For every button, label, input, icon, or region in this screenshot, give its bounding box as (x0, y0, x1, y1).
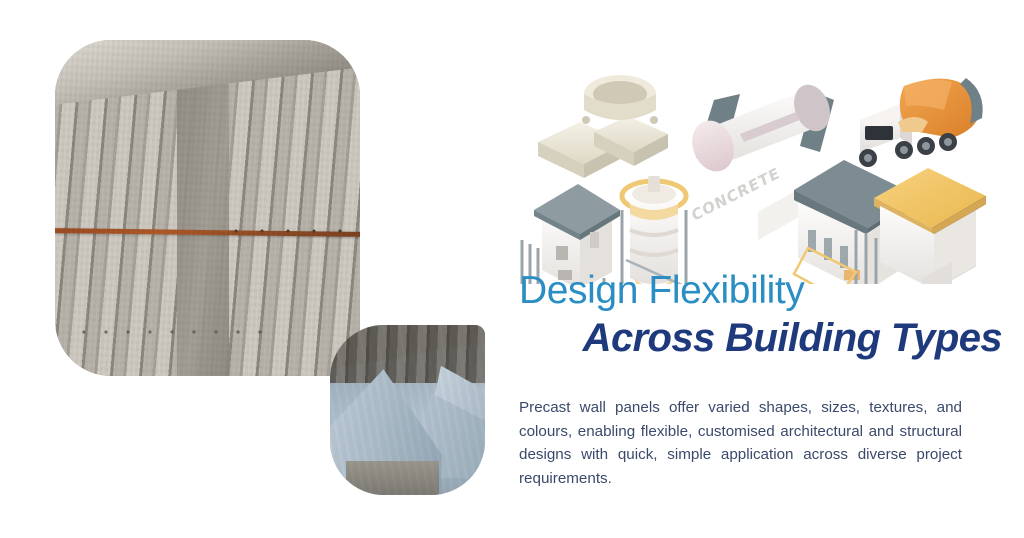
precast-slabs-photo (330, 325, 485, 495)
concrete-mixer-drum-icon (538, 75, 668, 178)
content-column: CONCRETE (500, 0, 1024, 538)
headline-line-1: Design Flexibility (500, 268, 1024, 314)
precast-wall-panels-photo (55, 40, 360, 376)
slabs-grain-overlay (330, 325, 485, 495)
headline-line-2: Across Building Types (500, 314, 1024, 362)
slide-root: CONCRETE (0, 0, 1024, 538)
mixer-truck-icon (859, 78, 983, 167)
body-paragraph: Precast wall panels offer varied shapes,… (519, 396, 962, 490)
isometric-concrete-industry-illustration: CONCRETE (508, 34, 988, 284)
panels-grain-overlay (55, 40, 360, 376)
cement-tank-icon (685, 80, 836, 178)
photo-collage (0, 0, 500, 538)
headline: Design Flexibility Across Building Types (500, 268, 1024, 362)
